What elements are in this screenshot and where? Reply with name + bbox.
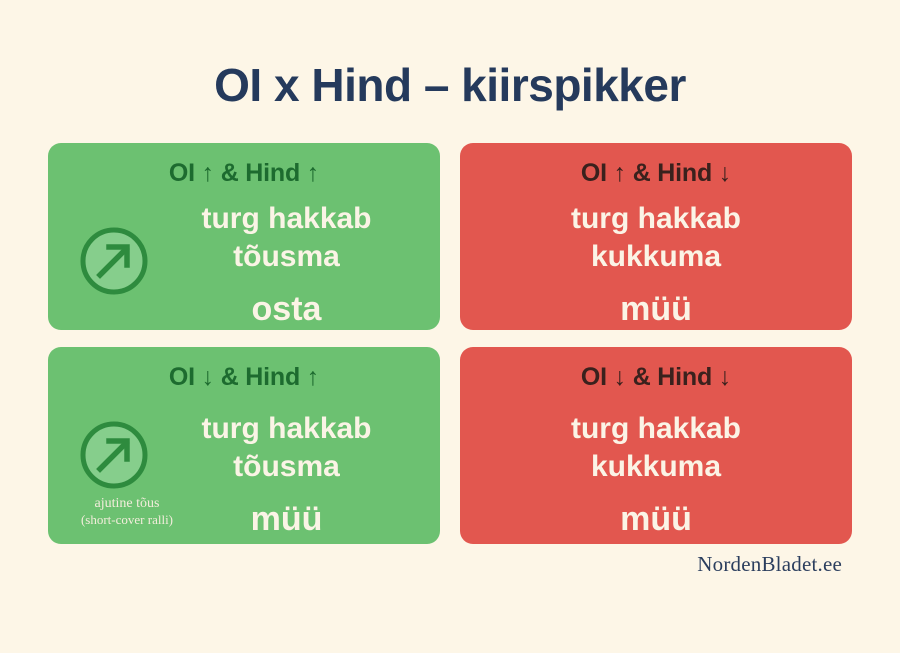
card-action: müü <box>474 288 838 330</box>
card-header: OI ↑ & Hind ↓ <box>460 159 852 188</box>
card-body-line-1: turg hakkab <box>143 410 430 448</box>
brand-footer: NordenBladet.ee <box>697 552 842 577</box>
card-body-line-2: tõusma <box>143 238 430 276</box>
card-body-line-2: tõusma <box>143 448 430 486</box>
card-oi-up-price-down[interactable]: OI ↑ & Hind ↓ turg hakkab kukkuma müü <box>460 143 852 330</box>
card-oi-down-price-down[interactable]: OI ↓ & Hind ↓ turg hakkab kukkuma müü <box>460 347 852 544</box>
card-body: turg hakkab tõusma osta <box>48 200 440 330</box>
card-body: turg hakkab kukkuma müü <box>460 410 852 540</box>
card-oi-down-price-up[interactable]: OI ↓ & Hind ↑ ajutine tõus (short-cover … <box>48 347 440 544</box>
card-body: turg hakkab tõusma müü <box>48 410 440 540</box>
card-body-line-2: kukkuma <box>474 238 838 276</box>
infographic-poster: OI x Hind – kiirspikker OI ↑ & Hind ↑ tu… <box>0 0 900 653</box>
card-body-line-1: turg hakkab <box>474 410 838 448</box>
card-header: OI ↑ & Hind ↑ <box>48 159 440 188</box>
card-body: turg hakkab kukkuma müü <box>460 200 852 330</box>
card-body-line-2: kukkuma <box>474 448 838 486</box>
card-header: OI ↓ & Hind ↓ <box>460 363 852 392</box>
card-action: müü <box>143 498 430 541</box>
card-action: müü <box>474 498 838 541</box>
card-body-line-1: turg hakkab <box>143 200 430 238</box>
card-body-line-1: turg hakkab <box>474 200 838 238</box>
card-action: osta <box>143 288 430 330</box>
card-header: OI ↓ & Hind ↑ <box>48 363 440 392</box>
card-oi-up-price-up[interactable]: OI ↑ & Hind ↑ turg hakkab tõusma osta <box>48 143 440 330</box>
page-title: OI x Hind – kiirspikker <box>0 58 900 112</box>
quadrant-grid: OI ↑ & Hind ↑ turg hakkab tõusma osta OI… <box>48 143 852 544</box>
